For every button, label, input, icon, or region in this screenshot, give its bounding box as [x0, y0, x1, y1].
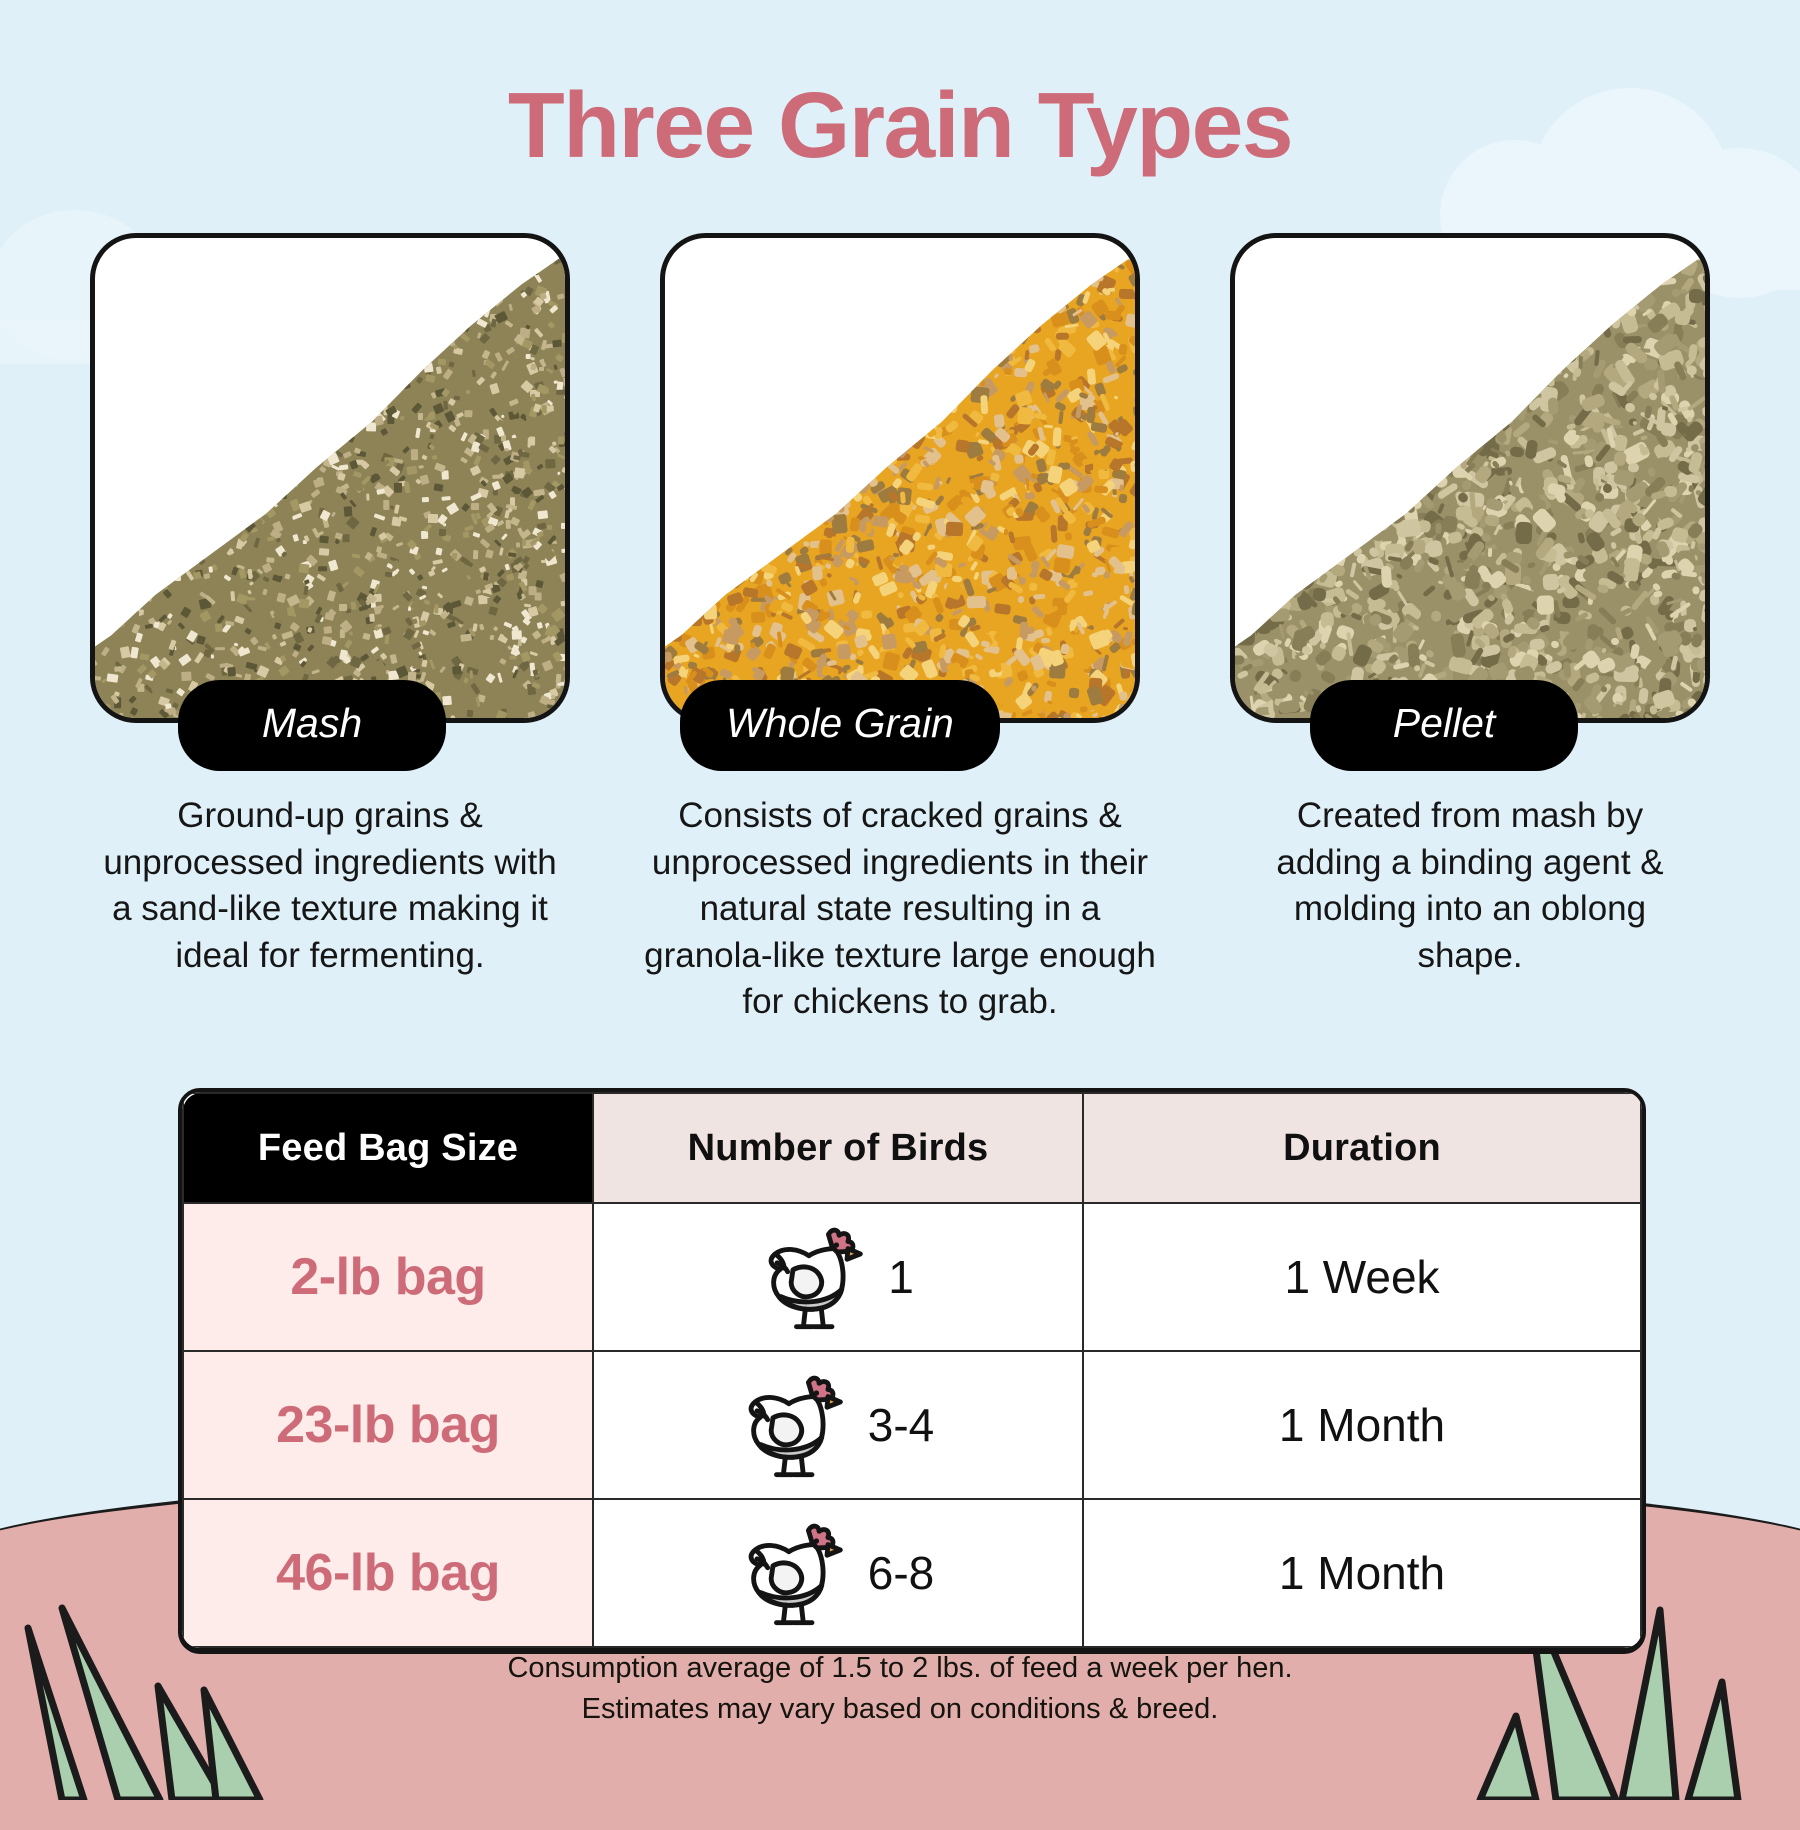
- pellet-grain-photo: [1230, 233, 1710, 723]
- table-header-row: Feed Bag Size Number of Birds Duration: [183, 1093, 1641, 1203]
- grain-description-whole-grain: Consists of cracked grains & unprocessed…: [638, 793, 1162, 1026]
- footnote: Consumption average of 1.5 to 2 lbs. of …: [0, 1648, 1800, 1730]
- column-header-duration: Duration: [1083, 1093, 1641, 1203]
- bird-count-value: 3-4: [868, 1398, 934, 1452]
- mash-pile: [95, 238, 565, 718]
- cell-duration: 1 Month: [1083, 1499, 1641, 1647]
- grain-card-mash: Mash Ground-up grains & unprocessed ingr…: [90, 233, 570, 723]
- column-header-feed-bag-size: Feed Bag Size: [183, 1093, 593, 1203]
- feed-bag-size-table: Feed Bag Size Number of Birds Duration 2…: [178, 1088, 1646, 1652]
- cell-duration: 1 Month: [1083, 1351, 1641, 1499]
- grain-label-mash: Mash: [178, 680, 446, 771]
- table-row: 46-lb bag 6-81 Month: [183, 1499, 1641, 1647]
- pellet-pile: [1235, 238, 1705, 718]
- cell-bag-size: 2-lb bag: [183, 1203, 593, 1351]
- grain-card-whole-grain: Whole Grain Consists of cracked grains &…: [660, 233, 1140, 723]
- chicken-icon: [742, 1518, 850, 1628]
- cell-number-of-birds: 6-8: [593, 1499, 1083, 1647]
- page-title: Three Grain Types: [0, 72, 1800, 179]
- grain-description-mash: Ground-up grains & unprocessed ingredien…: [102, 793, 558, 979]
- mash-grain-photo: [90, 233, 570, 723]
- chicken-icon: [762, 1222, 870, 1332]
- table-body: 2-lb bag 11 Week23-lb bag 3-41 Month46-l…: [183, 1203, 1641, 1647]
- bird-count-value: 6-8: [868, 1546, 934, 1600]
- cell-duration: 1 Week: [1083, 1203, 1641, 1351]
- bird-count-value: 1: [888, 1250, 914, 1304]
- column-header-number-of-birds: Number of Birds: [593, 1093, 1083, 1203]
- footnote-line-1: Consumption average of 1.5 to 2 lbs. of …: [0, 1648, 1800, 1689]
- cell-bag-size: 23-lb bag: [183, 1351, 593, 1499]
- chicken-icon: [742, 1370, 850, 1480]
- grain-card-pellet: Pellet Created from mash by adding a bin…: [1230, 233, 1710, 723]
- whole-grain-pile: [665, 238, 1135, 718]
- table-row: 2-lb bag 11 Week: [183, 1203, 1641, 1351]
- cell-number-of-birds: 3-4: [593, 1351, 1083, 1499]
- grain-type-cards: Mash Ground-up grains & unprocessed ingr…: [0, 233, 1800, 723]
- cell-number-of-birds: 1: [593, 1203, 1083, 1351]
- cell-bag-size: 46-lb bag: [183, 1499, 593, 1647]
- footnote-line-2: Estimates may vary based on conditions &…: [0, 1689, 1800, 1730]
- grain-description-pellet: Created from mash by adding a binding ag…: [1242, 793, 1698, 979]
- whole-grain-photo: [660, 233, 1140, 723]
- grain-label-pellet: Pellet: [1310, 680, 1578, 771]
- table-row: 23-lb bag 3-41 Month: [183, 1351, 1641, 1499]
- grain-label-whole-grain: Whole Grain: [680, 680, 1000, 771]
